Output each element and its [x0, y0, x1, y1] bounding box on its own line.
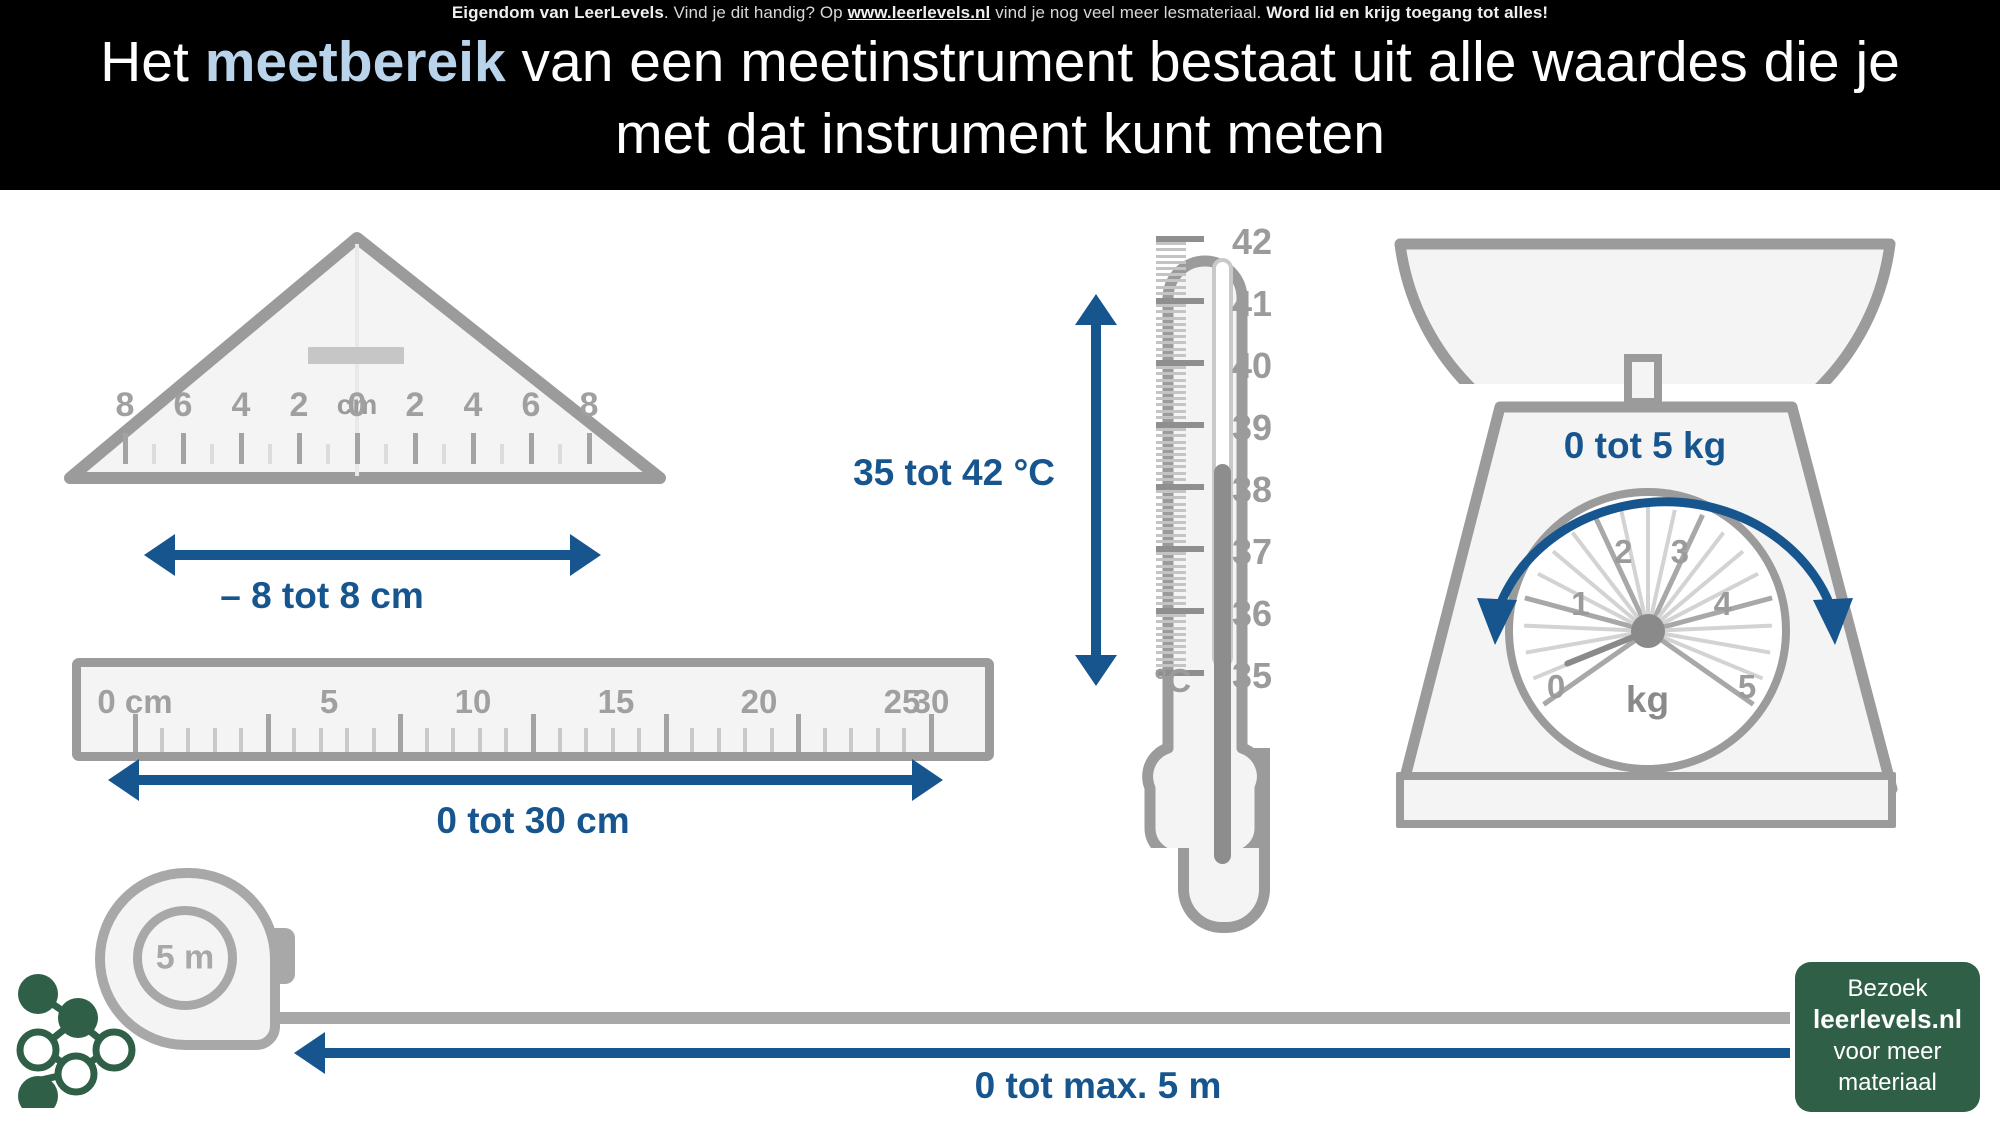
geo-tick-major: [355, 433, 360, 464]
thermometer-tick-minor: [1156, 397, 1186, 400]
thermometer-tick-minor: [1156, 286, 1186, 289]
ruler-tick-minor: [823, 728, 827, 752]
thermometer-tick-minor: [1156, 267, 1186, 270]
thermometer-tick-minor: [1156, 589, 1186, 592]
thermometer-tick-minor: [1156, 403, 1186, 406]
geo-tick-label: 2: [290, 386, 309, 425]
thermometer-tick-minor: [1156, 304, 1186, 307]
thermometer-tick-minor: [1156, 310, 1186, 313]
thermometer-tick-label: 41: [1232, 283, 1272, 325]
leerlevels-logo: [8, 968, 148, 1108]
title-part-1: Het: [100, 30, 205, 94]
badge-line-2: leerlevels.nl: [1813, 1004, 1962, 1034]
geo-tick-major: [587, 433, 592, 464]
thermometer-tick-label: 37: [1232, 531, 1272, 573]
thermometer-tick-minor: [1156, 658, 1186, 661]
thermometer-tick-minor: [1156, 335, 1186, 338]
thermometer-tick-label: 38: [1232, 469, 1272, 511]
geo-triangle-instrument: cm 8 6 4 2 0 2 4 6 8: [60, 228, 675, 533]
dial-label: 5: [1738, 668, 1756, 706]
thermometer-tick-minor: [1156, 527, 1186, 530]
ruler-tick-major: [266, 714, 271, 752]
thermometer-tick-minor: [1156, 385, 1186, 388]
geo-tick-major: [181, 433, 186, 464]
thermometer-tick-minor: [1156, 391, 1186, 394]
geo-tick-label: 0: [348, 386, 367, 425]
thermometer-tick-minor: [1156, 627, 1186, 630]
thermometer-tick-minor: [1156, 416, 1186, 419]
header-banner: Eigendom van LeerLevels. Vind je dit han…: [0, 0, 2000, 190]
thermometer-range-label: 35 tot 42 °C: [853, 452, 1055, 494]
tape-length-label: 5 m: [156, 939, 215, 978]
ruler-tick-major: [664, 714, 669, 752]
ruler-instrument: 0 cm 5 10 15 20 25 30: [72, 658, 994, 761]
geo-tick-minor: [442, 444, 446, 464]
title-part-2: van een meetinstrument bestaat uit alle …: [506, 30, 1900, 166]
thermometer-tick-minor: [1156, 434, 1186, 437]
thermometer-tick-minor: [1156, 261, 1186, 264]
thermometer-tick-minor: [1156, 323, 1186, 326]
thermometer-tick-minor: [1156, 317, 1186, 320]
ruler-tick-minor: [213, 728, 217, 752]
thermometer-tick-minor: [1156, 441, 1186, 444]
ruler-tick-major: [133, 714, 138, 752]
thermometer-tick-minor: [1156, 447, 1186, 450]
ruler-tick-major: [796, 714, 801, 752]
arrow-head-left: [108, 759, 139, 801]
ruler-tick-minor: [584, 728, 588, 752]
ruler-tick-minor: [849, 728, 853, 752]
ruler-tick-minor: [372, 728, 376, 752]
thermometer-tick-minor: [1156, 503, 1186, 506]
thermometer-tick-minor: [1156, 620, 1186, 623]
ruler-tick-minor: [902, 728, 906, 752]
thermometer-tick-minor: [1156, 633, 1186, 636]
ruler-tick-minor: [319, 728, 323, 752]
thermometer-tick-minor: [1156, 472, 1186, 475]
attribution-cta: Word lid en krijg toegang tot alles!: [1266, 3, 1548, 22]
ruler-tick-minor: [717, 728, 721, 752]
thermometer-tick-label: 42: [1232, 221, 1272, 263]
ruler-tick-minor: [186, 728, 190, 752]
geo-tick-major: [413, 433, 418, 464]
arrow-head-down: [1075, 655, 1117, 686]
ruler-tick-minor: [558, 728, 562, 752]
scale-unit-label: kg: [1626, 679, 1669, 721]
geo-tick-minor: [210, 444, 214, 464]
arrow-head-up: [1075, 294, 1117, 325]
scale-range-label: 0 tot 5 kg: [1564, 425, 1726, 467]
thermometer-tick-minor: [1156, 651, 1186, 654]
geo-tick-major: [297, 433, 302, 464]
thermometer-instrument: 42 41 40 39 38 37 36 35 °C: [1140, 228, 1270, 898]
geo-tick-label: 2: [406, 386, 425, 425]
thermometer-tick-major: [1156, 484, 1204, 490]
thermometer-tick-label: 36: [1232, 593, 1272, 635]
thermometer-tick-minor: [1156, 273, 1186, 276]
geo-tick-label: 6: [174, 386, 193, 425]
geo-tick-major: [529, 433, 534, 464]
ruler-tick-minor: [160, 728, 164, 752]
thermometer-tick-minor: [1156, 534, 1186, 537]
geo-tick-group: [60, 228, 675, 478]
arrow-head-left: [144, 534, 175, 576]
badge-line-1: Bezoek: [1795, 973, 1980, 1004]
ruler-tick-group: [81, 667, 985, 752]
geo-tick-label: 8: [580, 386, 599, 425]
thermometer-tick-minor: [1156, 279, 1186, 282]
thermometer-tick-major: [1156, 546, 1204, 552]
infographic-canvas: Eigendom van LeerLevels. Vind je dit han…: [0, 0, 2000, 1125]
ruler-tick-minor: [451, 728, 455, 752]
ruler-tick-minor: [770, 728, 774, 752]
thermometer-tick-minor: [1156, 515, 1186, 518]
ruler-tick-minor: [504, 728, 508, 752]
ruler-tick-minor: [239, 728, 243, 752]
page-title: Het meetbereik van een meetinstrument be…: [50, 26, 1950, 170]
ruler-tick-minor: [292, 728, 296, 752]
geo-tick-major: [123, 433, 128, 464]
thermometer-tick-minor: [1156, 459, 1186, 462]
thermometer-tick-label: 39: [1232, 407, 1272, 449]
thermometer-tick-minor: [1156, 490, 1186, 493]
thermometer-tick-minor: [1156, 596, 1186, 599]
thermometer-tick-minor: [1156, 372, 1186, 375]
thermometer-tick-label: 40: [1232, 345, 1272, 387]
thermometer-tick-minor: [1156, 565, 1186, 568]
ruler-tick-minor: [425, 728, 429, 752]
thermometer-tick-minor: [1156, 614, 1186, 617]
thermometer-unit-label: °C: [1154, 662, 1191, 700]
thermometer-tick-minor: [1156, 379, 1186, 382]
geo-tick-major: [471, 433, 476, 464]
thermometer-tick-minor: [1156, 428, 1186, 431]
thermometer-tick-minor: [1156, 366, 1186, 369]
thermometer-tick-minor: [1156, 509, 1186, 512]
ruler-tick-minor: [478, 728, 482, 752]
badge-line-3: voor meer: [1795, 1036, 1980, 1067]
geo-range-label: – 8 tot 8 cm: [220, 575, 424, 617]
ruler-tick-major: [398, 714, 403, 752]
leerlevels-link[interactable]: www.leerlevels.nl: [848, 3, 991, 22]
geo-tick-minor: [152, 444, 156, 464]
scale-range-arrow: [1465, 470, 1865, 670]
arrow-head-right: [570, 534, 601, 576]
attribution-owner: Eigendom van LeerLevels: [452, 3, 664, 22]
geo-tick-minor: [558, 444, 562, 464]
attribution-line: Eigendom van LeerLevels. Vind je dit han…: [0, 3, 2000, 23]
thermometer-tick-minor: [1156, 242, 1186, 245]
attribution-mid-1: . Vind je dit handig? Op: [664, 3, 848, 22]
badge-line-4: materiaal: [1795, 1067, 1980, 1098]
geo-tick-major: [239, 433, 244, 464]
geo-tick-label: 4: [232, 386, 251, 425]
thermometer-tick-minor: [1156, 583, 1186, 586]
geo-tick-minor: [326, 444, 330, 464]
geo-tick-label: 6: [522, 386, 541, 425]
ruler-tick-major: [929, 714, 934, 752]
thermometer-tick-minor: [1156, 639, 1186, 642]
thermometer-tick-minor: [1156, 552, 1186, 555]
thermometer-tick-label: 35: [1232, 655, 1272, 697]
thermometer-tick-major: [1156, 608, 1204, 614]
thermometer-tick-minor: [1156, 248, 1186, 251]
thermometer-tick-major: [1156, 236, 1204, 242]
ruler-range-label: 0 tot 30 cm: [436, 800, 629, 842]
attribution-mid-2: vind je nog veel meer lesmateriaal.: [990, 3, 1266, 22]
arrow-head-right: [912, 759, 943, 801]
thermometer-tick-minor: [1156, 478, 1186, 481]
thermometer-tick-minor: [1156, 354, 1186, 357]
ruler-tick-major: [531, 714, 536, 752]
ruler-tick-minor: [690, 728, 694, 752]
thermometer-tick-major: [1156, 422, 1204, 428]
thermometer-tick-minor: [1156, 292, 1186, 295]
thermometer-tick-minor: [1156, 329, 1186, 332]
thermometer-tick-minor: [1156, 645, 1186, 648]
thermometer-tick-minor: [1156, 540, 1186, 543]
ruler-tick-minor: [876, 728, 880, 752]
geo-tick-label: 4: [464, 386, 483, 425]
dial-label: 0: [1547, 668, 1565, 706]
ruler-tick-minor: [743, 728, 747, 752]
thermometer-tick-major: [1156, 360, 1204, 366]
arrow-head-left: [294, 1032, 325, 1074]
tape-ribbon: [235, 1012, 1913, 1024]
ruler-tick-minor: [345, 728, 349, 752]
thermometer-tick-minor: [1156, 521, 1186, 524]
thermometer-tick-minor: [1156, 453, 1186, 456]
geo-tick-minor: [500, 444, 504, 464]
geo-tick-minor: [268, 444, 272, 464]
thermometer-tick-major: [1156, 298, 1204, 304]
thermometer-tick-minor: [1156, 558, 1186, 561]
thermometer-tick-minor: [1156, 255, 1186, 258]
thermometer-tick-minor: [1156, 496, 1186, 499]
visit-badge[interactable]: Bezoek leerlevels.nl voor meer materiaal: [1795, 962, 1980, 1112]
scale-base: [1396, 772, 1896, 828]
geo-tick-label: 8: [116, 386, 135, 425]
title-highlight-meetbereik: meetbereik: [205, 30, 506, 94]
ruler-tick-minor: [611, 728, 615, 752]
thermometer-tick-minor: [1156, 465, 1186, 468]
geo-tick-minor: [384, 444, 388, 464]
ruler-tick-minor: [637, 728, 641, 752]
thermometer-tick-minor: [1156, 571, 1186, 574]
thermometer-tick-minor: [1156, 348, 1186, 351]
thermometer-tick-minor: [1156, 577, 1186, 580]
thermometer-tick-minor: [1156, 410, 1186, 413]
thermometer-tick-minor: [1156, 341, 1186, 344]
thermometer-tick-minor: [1156, 602, 1186, 605]
tape-range-label: 0 tot max. 5 m: [975, 1065, 1222, 1107]
